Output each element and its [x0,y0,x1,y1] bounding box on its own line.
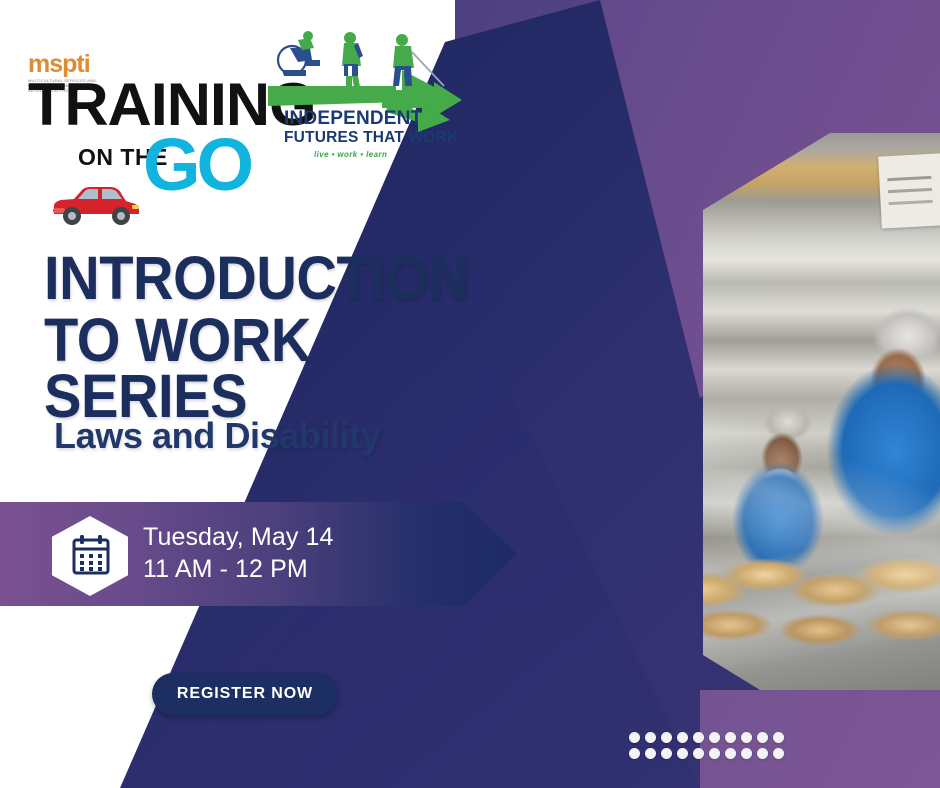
green-arrow-people-icon [262,30,472,170]
red-car-icon [48,180,144,228]
dot [773,732,784,743]
page-title: INTRODUCTION TO WORK SERIES [44,250,514,424]
poster-canvas: mspti MULTICULTURAL SERVICES AND PROGRAM… [0,0,940,788]
dot [629,748,640,759]
dot [677,732,688,743]
dot [661,732,672,743]
dot [645,732,656,743]
decorative-dot-grid [629,732,789,762]
dot [709,732,720,743]
dot [629,732,640,743]
dot [741,732,752,743]
dot [693,732,704,743]
calendar-icon [72,535,110,575]
futures-that-work-text: FUTURES THAT WORK [284,129,458,147]
dot [773,748,784,759]
page-subtitle: Laws and Disability [54,415,524,457]
live-work-learn-text: live • work • learn [314,150,387,159]
go-wordmark: GO [143,134,250,197]
dot [757,732,768,743]
dot [709,748,720,759]
event-date: Tuesday, May 14 [143,521,333,553]
event-time: 11 AM - 12 PM [143,553,333,585]
event-datetime: Tuesday, May 14 11 AM - 12 PM [143,521,333,585]
independent-futures-logo: INDEPENDENT FUTURES THAT WORK live • wor… [262,30,472,170]
register-now-button[interactable]: REGISTER NOW [152,673,338,715]
dot [725,748,736,759]
hanging-sign [878,153,940,228]
dot [645,748,656,759]
independent-text: INDEPENDENT [284,108,422,130]
dot [725,732,736,743]
title-line-2: TO WORK SERIES [44,312,476,424]
dot [693,748,704,759]
title-line-1: INTRODUCTION [44,250,476,306]
dot [741,748,752,759]
dot [661,748,672,759]
dot [757,748,768,759]
dot [677,748,688,759]
